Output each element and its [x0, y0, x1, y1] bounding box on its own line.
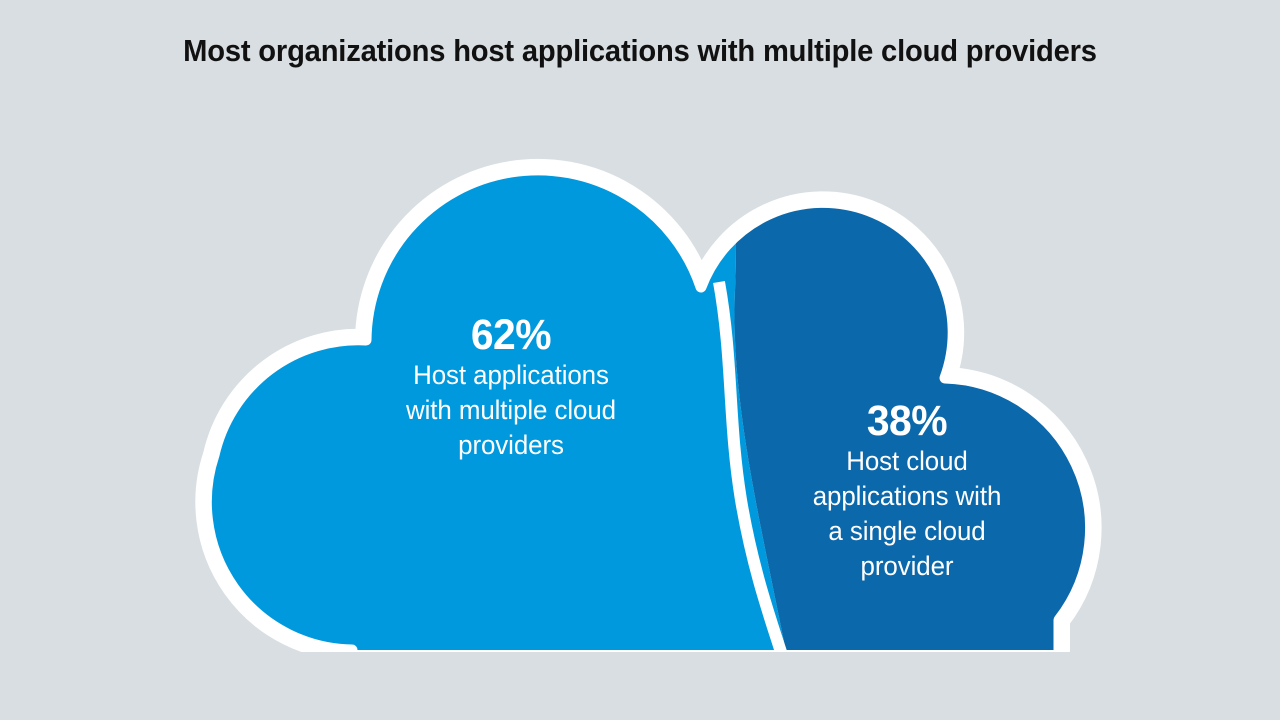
- stat-right-description-line-2: applications with: [785, 479, 1029, 514]
- stat-left-percent: 62%: [363, 312, 659, 358]
- stat-left-description-line-3: providers: [361, 428, 661, 463]
- infographic-canvas: Most organizations host applications wit…: [0, 0, 1280, 720]
- stat-right-description-line-4: provider: [785, 549, 1029, 584]
- stat-right-percent: 38%: [786, 398, 1027, 444]
- cloud-base-trim: [150, 652, 1150, 720]
- stat-left-description-line-2: with multiple cloud: [361, 393, 661, 428]
- stat-right-description-line-3: a single cloud: [785, 514, 1029, 549]
- stat-left-description-line-1: Host applications: [361, 358, 661, 393]
- stat-right: 38% Host cloud applications with a singl…: [780, 398, 1034, 584]
- stat-left: 62% Host applications with multiple clou…: [355, 312, 667, 463]
- stat-right-description-line-1: Host cloud: [785, 444, 1029, 479]
